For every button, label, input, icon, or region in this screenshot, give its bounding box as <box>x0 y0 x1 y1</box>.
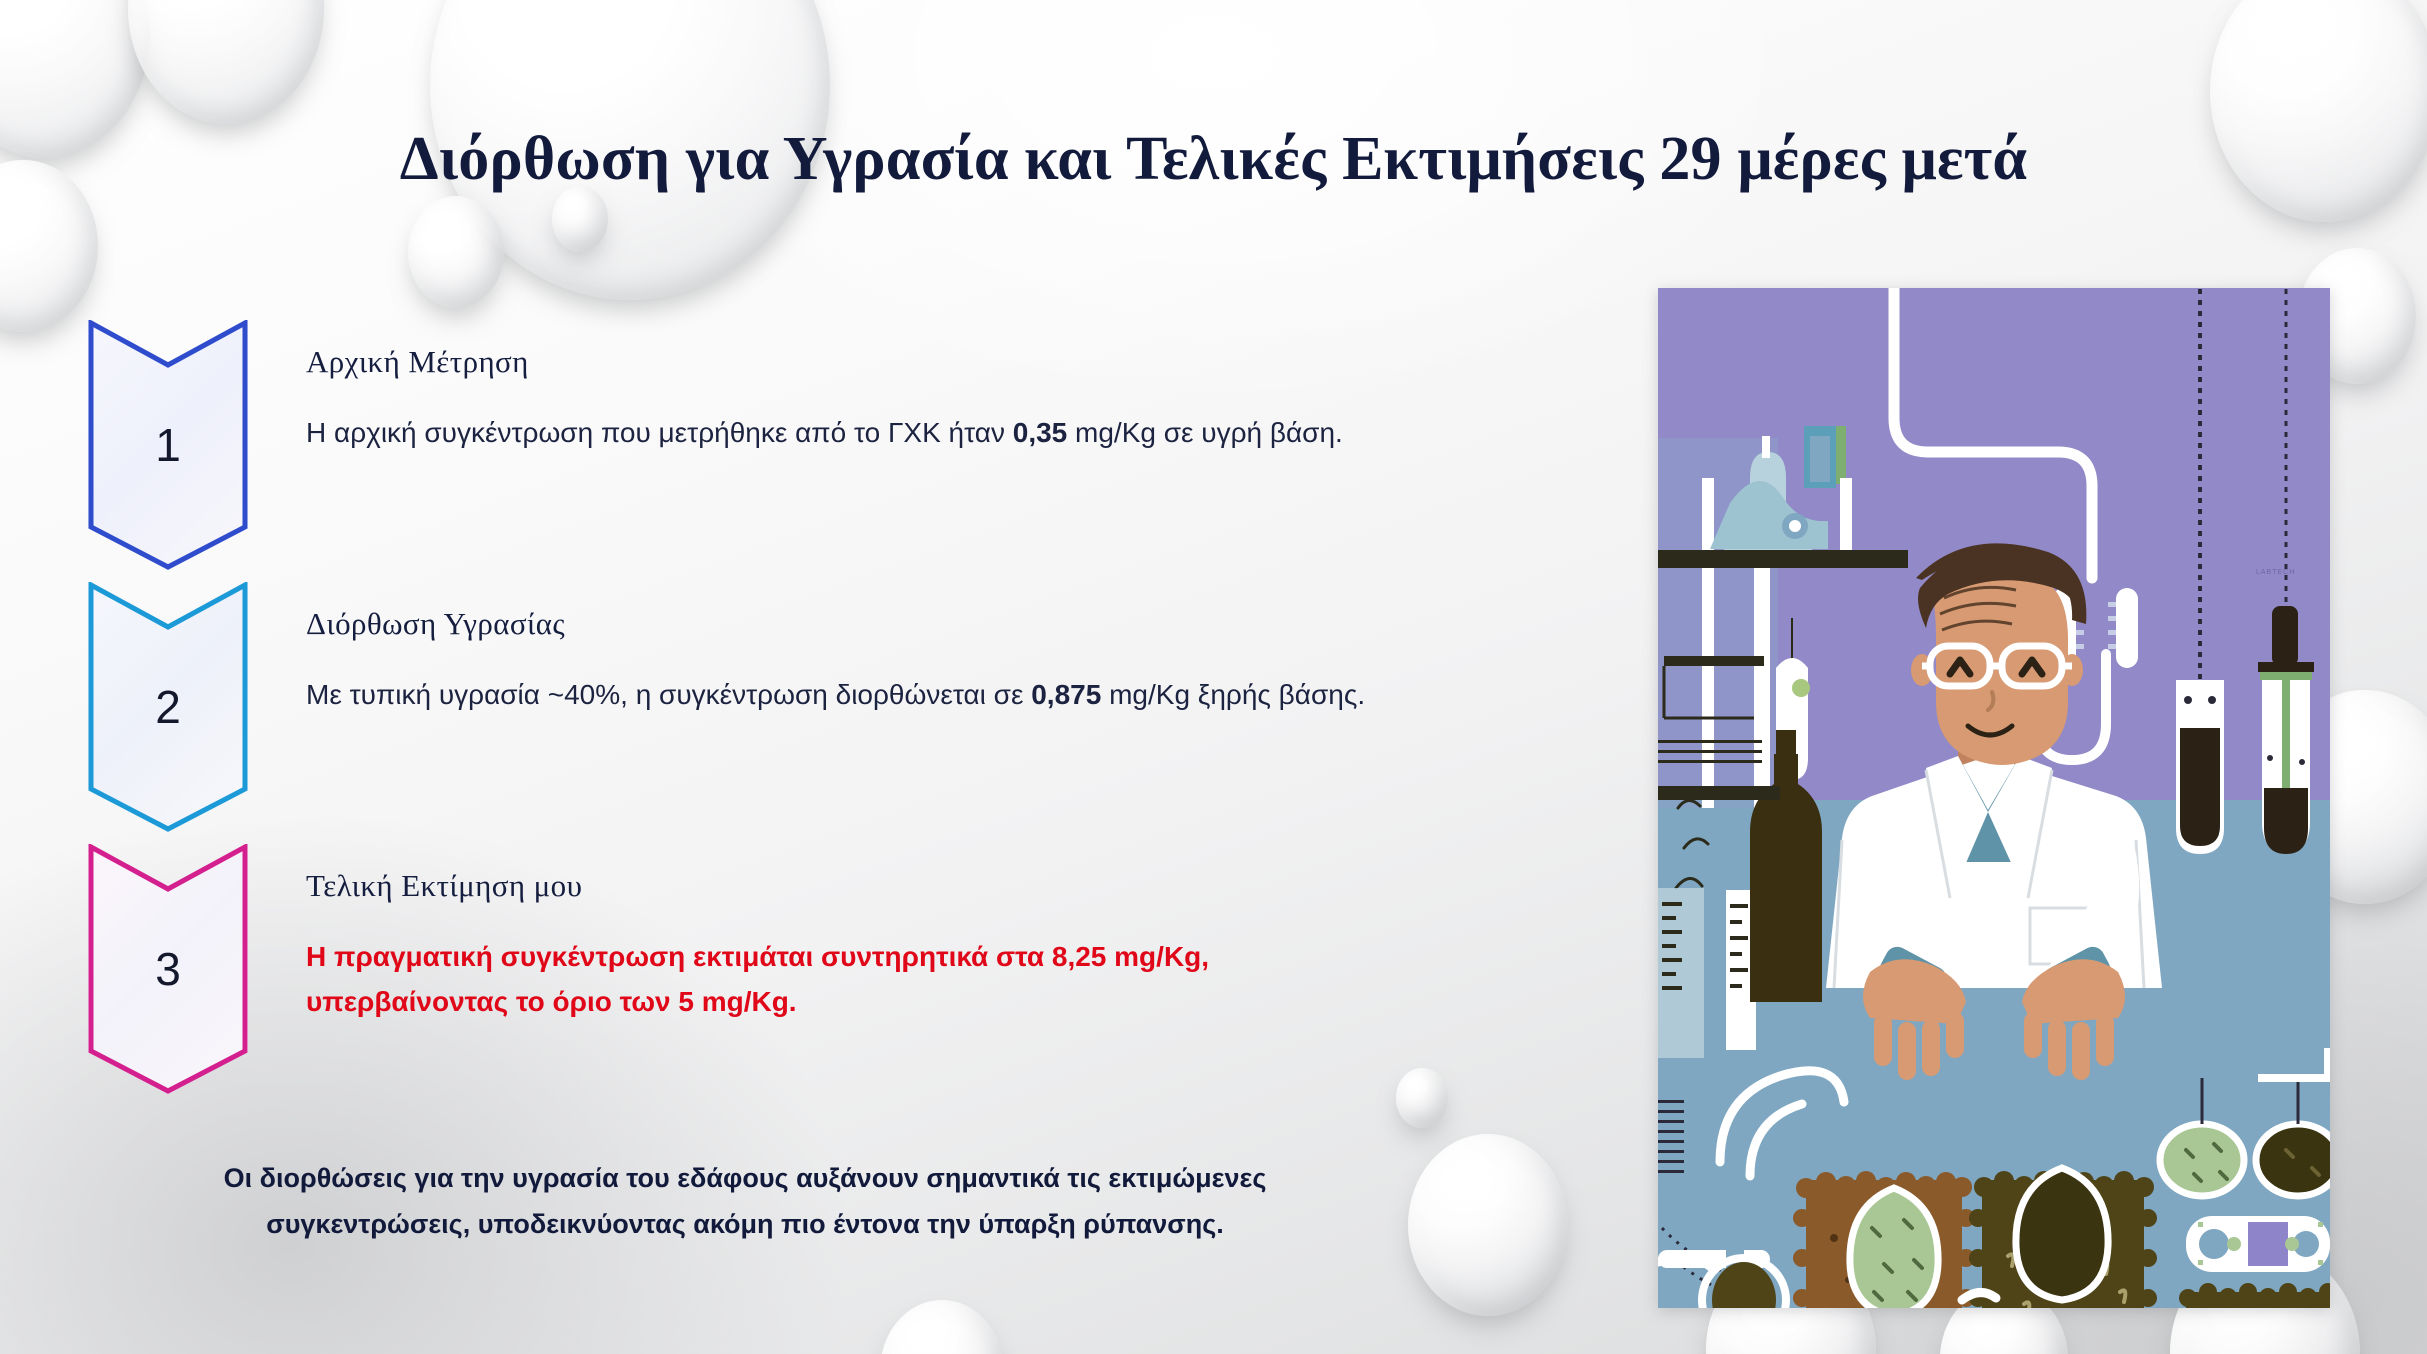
step-marker-3: 3 <box>88 844 248 1094</box>
page-title: Διόρθωση για Υγρασία και Τελικές Εκτιμήσ… <box>0 124 2427 195</box>
step-heading: Τελική Εκτίμηση μου <box>306 868 1538 904</box>
step-text-before: Η αρχική συγκέντρωση που μετρήθηκε από τ… <box>306 417 1013 448</box>
lab-scientist-illustration: LABTECH <box>1658 288 2330 1308</box>
soil-sample-a <box>1793 1171 1975 1308</box>
step-value: 0,35 <box>1013 417 1068 448</box>
step-number: 3 <box>88 844 248 1094</box>
water-droplet-decoration <box>128 0 324 124</box>
step-body: Τελική Εκτίμηση μου Η πραγματική συγκέντ… <box>248 844 1538 1025</box>
slide-canvas: Διόρθωση για Υγρασία και Τελικές Εκτιμήσ… <box>0 0 2427 1354</box>
water-droplet-decoration <box>880 1300 1004 1354</box>
step-item: 2 Διόρθωση Υγρασίας Με τυπική υγρασία ~4… <box>88 582 1538 844</box>
step-text-before: Με τυπική υγρασία ~40%, η συγκέντρωση δι… <box>306 679 1031 710</box>
water-droplet-decoration <box>1408 1134 1568 1316</box>
petri-dish-dark <box>2256 1124 2330 1196</box>
step-description: Η πραγματική συγκέντρωση εκτιμάται συντη… <box>306 934 1346 1025</box>
lab-instrument-panel <box>2186 1216 2330 1272</box>
step-value: 0,875 <box>1031 679 1101 710</box>
step-text-after: mg/Kg σε υγρή βάση. <box>1067 417 1343 448</box>
steps-list: 1 Αρχική Μέτρηση Η αρχική συγκέντρωση πο… <box>88 320 1538 1106</box>
step-number: 2 <box>88 582 248 832</box>
water-droplet-decoration <box>552 186 608 252</box>
step-text-after: mg/Kg ξηρής βάσης. <box>1101 679 1365 710</box>
summary-line-2: συγκεντρώσεις, υποδεικνύοντας ακόμη πιο … <box>100 1201 1390 1247</box>
step-marker-1: 1 <box>88 320 248 570</box>
lab-illustration-svg: LABTECH <box>1658 288 2330 1308</box>
step-number: 1 <box>88 320 248 570</box>
step-heading: Διόρθωση Υγρασίας <box>306 606 1538 642</box>
petri-dish-green <box>2160 1124 2244 1196</box>
step-item: 1 Αρχική Μέτρηση Η αρχική συγκέντρωση πο… <box>88 320 1538 582</box>
step-item: 3 Τελική Εκτίμηση μου Η πραγματική συγκέ… <box>88 844 1538 1106</box>
step-description: Η αρχική συγκέντρωση που μετρήθηκε από τ… <box>306 410 1426 455</box>
step-heading: Αρχική Μέτρηση <box>306 344 1538 380</box>
step-marker-2: 2 <box>88 582 248 832</box>
step-description: Με τυπική υγρασία ~40%, η συγκέντρωση δι… <box>306 672 1426 717</box>
step-body: Διόρθωση Υγρασίας Με τυπική υγρασία ~40%… <box>248 582 1538 717</box>
svg-text:LABTECH: LABTECH <box>2256 569 2295 576</box>
summary-line-1: Οι διορθώσεις για την υγρασία του εδάφου… <box>100 1155 1390 1201</box>
soil-sample-b <box>1969 1168 2157 1308</box>
water-droplet-decoration <box>408 196 504 308</box>
step-body: Αρχική Μέτρηση Η αρχική συγκέντρωση που … <box>248 320 1538 455</box>
summary-text: Οι διορθώσεις για την υγρασία του εδάφου… <box>100 1155 1390 1248</box>
